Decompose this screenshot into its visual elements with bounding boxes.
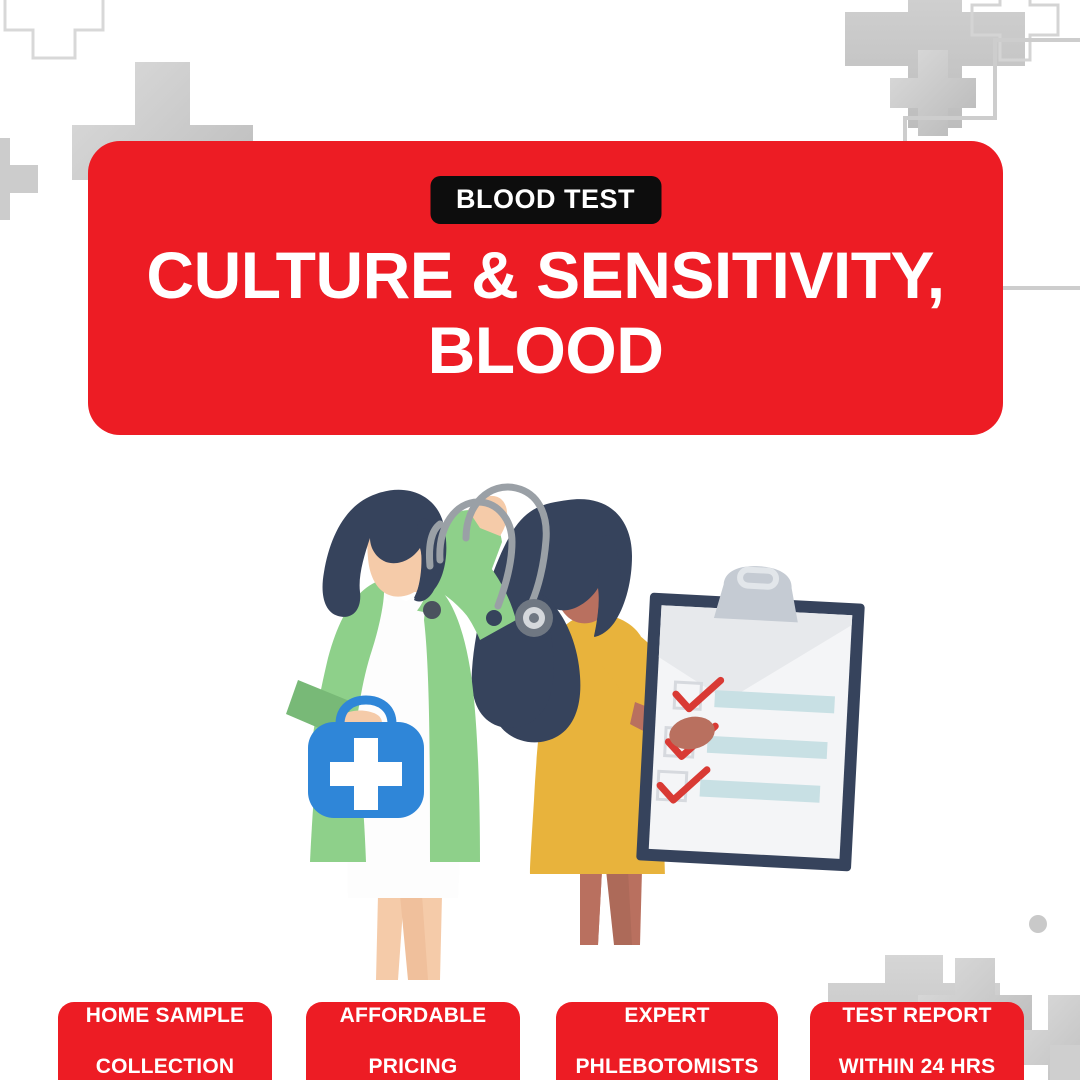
healthcare-illustration — [280, 470, 900, 1030]
badge-4-line1: TEST REPORT — [818, 1003, 1016, 1028]
blood-test-tag: BLOOD TEST — [430, 176, 661, 224]
feature-badges: HOME SAMPLE COLLECTION AFFORDABLE PRICIN… — [0, 998, 1080, 1080]
badge-4-line2: WITHIN 24 HRS — [818, 1054, 1016, 1079]
dot-right-icon — [1029, 915, 1047, 933]
badge-2-line2: PRICING — [314, 1054, 512, 1079]
stethoscope-earpiece-right — [486, 610, 502, 626]
badge-home-sample-collection[interactable]: HOME SAMPLE COLLECTION — [58, 1002, 272, 1080]
badge-test-report-24hrs[interactable]: TEST REPORT WITHIN 24 HRS — [810, 1002, 1024, 1080]
poster-canvas: BLOOD TEST CULTURE & SENSITIVITY, BLOOD — [0, 0, 1080, 1080]
doctor-legs — [376, 895, 442, 980]
cross-outline-top-left-icon — [5, 0, 103, 58]
clipboard — [636, 564, 865, 871]
badge-1-line2: COLLECTION — [66, 1054, 264, 1079]
badge-affordable-pricing[interactable]: AFFORDABLE PRICING — [306, 1002, 520, 1080]
woman-legs — [580, 870, 642, 945]
page-title: CULTURE & SENSITIVITY, BLOOD — [88, 238, 1003, 388]
badge-expert-phlebotomists[interactable]: EXPERT PHLEBOTOMISTS — [556, 1002, 778, 1080]
clipboard-clip — [714, 564, 801, 622]
hero-card: BLOOD TEST CULTURE & SENSITIVITY, BLOOD — [88, 141, 1003, 435]
badge-3-line1: EXPERT — [564, 1003, 770, 1028]
badge-2-line1: AFFORDABLE — [314, 1003, 512, 1028]
cross-solid-small-left-edge-icon — [0, 138, 38, 220]
badge-3-line2: PHLEBOTOMISTS — [564, 1054, 770, 1079]
stethoscope-earpiece-left — [423, 601, 441, 619]
badge-1-line1: HOME SAMPLE — [66, 1003, 264, 1028]
